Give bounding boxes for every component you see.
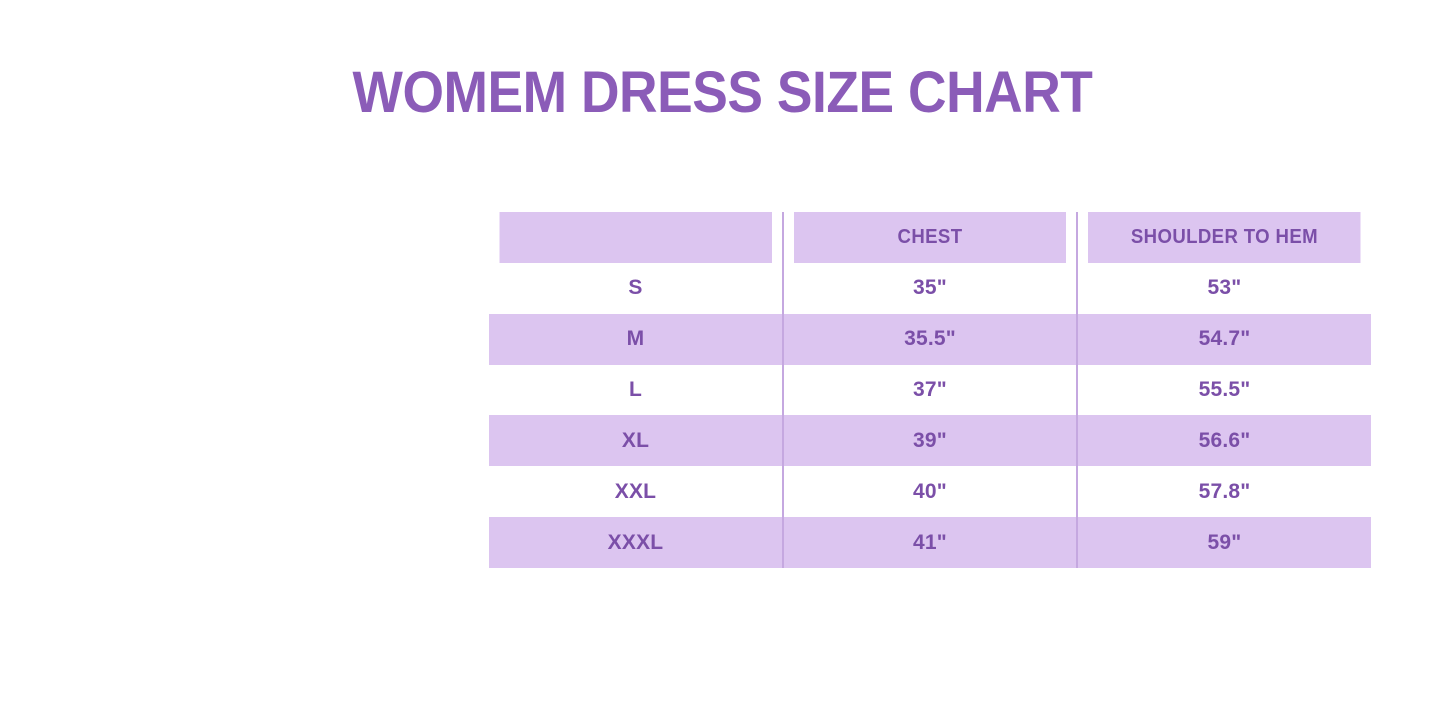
cell-shoulder-to-hem: 53" bbox=[1077, 263, 1371, 314]
size-chart-page: WOMEM DRESS SIZE CHART CHEST SHOULDER TO… bbox=[0, 0, 1445, 723]
column-header-size bbox=[499, 212, 772, 263]
cell-shoulder-to-hem: 56.6" bbox=[1077, 415, 1371, 466]
table-row: XL 39" 56.6" bbox=[489, 415, 1371, 466]
cell-chest: 37" bbox=[783, 365, 1077, 416]
size-chart-table: CHEST SHOULDER TO HEM S 35" 53" M 35.5" … bbox=[489, 212, 1371, 568]
table-header-row: CHEST SHOULDER TO HEM bbox=[489, 212, 1371, 263]
size-chart-table-container: CHEST SHOULDER TO HEM S 35" 53" M 35.5" … bbox=[489, 212, 1371, 568]
cell-chest: 39" bbox=[783, 415, 1077, 466]
page-title: WOMEM DRESS SIZE CHART bbox=[58, 58, 1387, 128]
table-row: XXXL 41" 59" bbox=[489, 517, 1371, 568]
cell-shoulder-to-hem: 59" bbox=[1077, 517, 1371, 568]
cell-size: S bbox=[489, 263, 783, 314]
cell-size: M bbox=[489, 314, 783, 365]
cell-size: XXL bbox=[489, 466, 783, 517]
cell-chest: 35.5" bbox=[783, 314, 1077, 365]
cell-shoulder-to-hem: 54.7" bbox=[1077, 314, 1371, 365]
cell-chest: 41" bbox=[783, 517, 1077, 568]
cell-shoulder-to-hem: 57.8" bbox=[1077, 466, 1371, 517]
cell-size: XXXL bbox=[489, 517, 783, 568]
table-row: XXL 40" 57.8" bbox=[489, 466, 1371, 517]
cell-size: XL bbox=[489, 415, 783, 466]
cell-chest: 40" bbox=[783, 466, 1077, 517]
table-row: S 35" 53" bbox=[489, 263, 1371, 314]
column-header-chest: CHEST bbox=[793, 212, 1066, 263]
table-row: L 37" 55.5" bbox=[489, 365, 1371, 416]
cell-size: L bbox=[489, 365, 783, 416]
column-header-shoulder-to-hem: SHOULDER TO HEM bbox=[1087, 212, 1360, 263]
cell-shoulder-to-hem: 55.5" bbox=[1077, 365, 1371, 416]
table-row: M 35.5" 54.7" bbox=[489, 314, 1371, 365]
cell-chest: 35" bbox=[783, 263, 1077, 314]
